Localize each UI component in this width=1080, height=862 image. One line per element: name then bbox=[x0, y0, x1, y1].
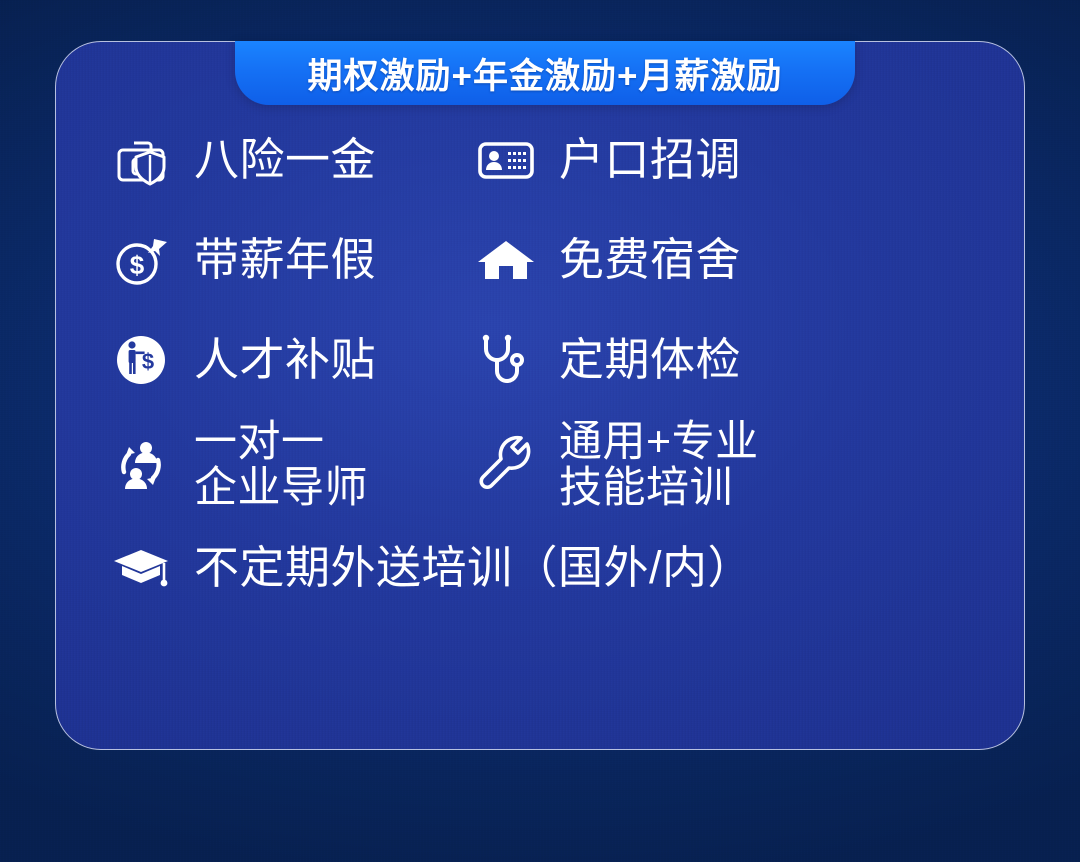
benefit-label: 定期体检 bbox=[559, 336, 741, 384]
wrench-icon bbox=[475, 434, 537, 496]
benefit-item-external-training[interactable]: 不定期外送培训（国外/内） bbox=[0, 520, 1080, 616]
benefit-label: 通用+专业 技能培训 bbox=[559, 419, 759, 512]
stethoscope-icon bbox=[475, 329, 537, 391]
benefit-cell-left: 八险一金 bbox=[0, 110, 455, 210]
benefit-cell-left: $ 人才补贴 bbox=[0, 310, 455, 410]
benefit-cell-right: 免费宿舍 bbox=[455, 210, 915, 310]
benefits-row: $ 带薪年假 免费宿舍 bbox=[0, 210, 1080, 310]
benefits-row: 一对一 企业导师 通用+专业 技能培训 bbox=[0, 410, 1080, 520]
benefits-content: 八险一金 bbox=[0, 110, 1080, 616]
id-card-icon bbox=[475, 129, 537, 191]
header-banner: 期权激励+年金激励+月薪激励 bbox=[235, 41, 855, 105]
benefit-cell-right: 户口招调 bbox=[455, 110, 915, 210]
benefit-cell-right: 通用+专业 技能培训 bbox=[455, 410, 915, 520]
benefit-item-mentorship[interactable]: 一对一 企业导师 bbox=[110, 410, 368, 520]
dollar-coin-airplane-icon: $ bbox=[110, 229, 172, 291]
benefit-label: 带薪年假 bbox=[194, 236, 376, 284]
benefit-label: 人才补贴 bbox=[194, 336, 376, 384]
benefit-item-free-dormitory[interactable]: 免费宿舍 bbox=[475, 210, 741, 310]
benefits-row: $ 人才补贴 bbox=[0, 310, 1080, 410]
mentorship-people-icon bbox=[110, 434, 172, 496]
benefit-item-insurance[interactable]: 八险一金 bbox=[110, 110, 376, 210]
person-dollar-circle-icon: $ bbox=[110, 329, 172, 391]
banner-title: 期权激励+年金激励+月薪激励 bbox=[308, 48, 783, 99]
benefit-item-skills-training[interactable]: 通用+专业 技能培训 bbox=[475, 410, 759, 520]
benefits-grid: 八险一金 bbox=[0, 110, 1080, 616]
benefit-item-health-checkup[interactable]: 定期体检 bbox=[475, 310, 741, 410]
benefit-cell-left: $ 带薪年假 bbox=[0, 210, 455, 310]
benefit-label: 八险一金 bbox=[194, 136, 376, 184]
benefit-cell-right: 定期体检 bbox=[455, 310, 915, 410]
svg-text:$: $ bbox=[142, 349, 154, 374]
house-icon bbox=[475, 229, 537, 291]
benefit-label: 一对一 企业导师 bbox=[194, 419, 368, 512]
benefit-item-household-registration[interactable]: 户口招调 bbox=[475, 110, 741, 210]
benefit-label: 免费宿舍 bbox=[559, 236, 741, 284]
benefit-label: 户口招调 bbox=[559, 136, 741, 184]
benefit-item-paid-leave[interactable]: $ 带薪年假 bbox=[110, 210, 376, 310]
svg-text:$: $ bbox=[130, 250, 145, 280]
poster-root: 期权激励+年金激励+月薪激励 bbox=[0, 0, 1080, 862]
benefit-label: 不定期外送培训（国外/内） bbox=[194, 544, 753, 592]
briefcase-shield-icon bbox=[110, 129, 172, 191]
benefit-cell-left: 一对一 企业导师 bbox=[0, 410, 455, 520]
benefits-row: 八险一金 bbox=[0, 110, 1080, 210]
graduation-cap-icon bbox=[110, 537, 172, 599]
benefit-item-talent-subsidy[interactable]: $ 人才补贴 bbox=[110, 310, 376, 410]
